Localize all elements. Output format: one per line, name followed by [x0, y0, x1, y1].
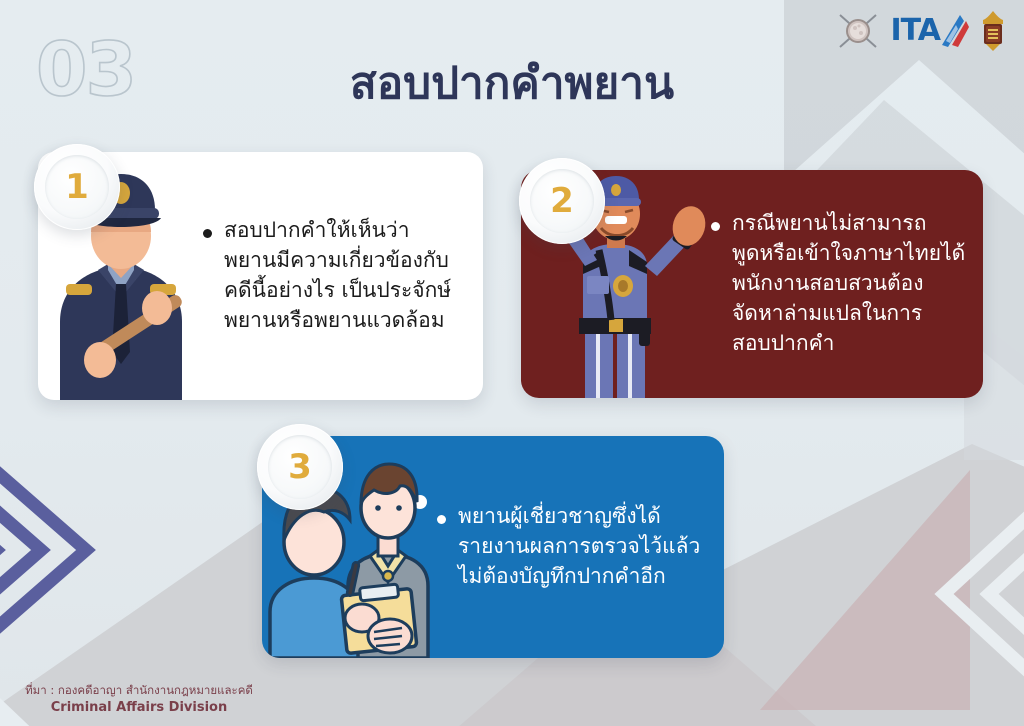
ita-logo: ITA	[890, 11, 970, 51]
ita-swoosh-icon	[940, 11, 970, 51]
decorative-chevrons-right	[804, 446, 1024, 726]
step-badge-3: 3	[257, 424, 343, 510]
bullet-icon	[203, 229, 212, 238]
footer-source-english: Criminal Affairs Division	[14, 699, 264, 718]
royal-thai-police-emblem-icon	[978, 10, 1008, 52]
ita-logo-text: ITA	[890, 16, 940, 46]
card-3-text: พยานผู้เชี่ยวชาญซึ่งได้ รายงานผลการตรวจไ…	[458, 502, 700, 591]
step-badge-3-number: 3	[288, 450, 312, 484]
footer-source-thai: ที่มา : กองคดีอาญา สำนักงานกฎหมายและคดี	[14, 682, 264, 699]
logo-bar: ITA	[836, 8, 1008, 54]
step-badge-2-number: 2	[550, 184, 574, 218]
decorative-chevrons-left	[0, 400, 168, 700]
slide-canvas: 03 สอบปากคำพยาน ITA	[0, 0, 1024, 726]
page-title: สอบปากคำพยาน	[0, 48, 1024, 118]
card-2-body: กรณีพยานไม่สามารถ พูดหรือเข้าใจภาษาไทยได…	[711, 209, 983, 358]
footer-source: ที่มา : กองคดีอาญา สำนักงานกฎหมายและคดี …	[14, 682, 264, 718]
bullet-icon	[711, 222, 720, 231]
card-1-body: สอบปากคำให้เห็นว่า พยานมีความเกี่ยวข้องก…	[203, 216, 483, 335]
bullet-icon	[437, 515, 446, 524]
magnifier-icon	[836, 11, 882, 51]
card-3-body: พยานผู้เชี่ยวชาญซึ่งได้ รายงานผลการตรวจไ…	[437, 502, 724, 591]
step-badge-2: 2	[519, 158, 605, 244]
step-badge-1-number: 1	[65, 170, 89, 204]
card-2-text: กรณีพยานไม่สามารถ พูดหรือเข้าใจภาษาไทยได…	[732, 209, 965, 358]
step-badge-1: 1	[34, 144, 120, 230]
card-1-text: สอบปากคำให้เห็นว่า พยานมีความเกี่ยวข้องก…	[224, 216, 451, 335]
